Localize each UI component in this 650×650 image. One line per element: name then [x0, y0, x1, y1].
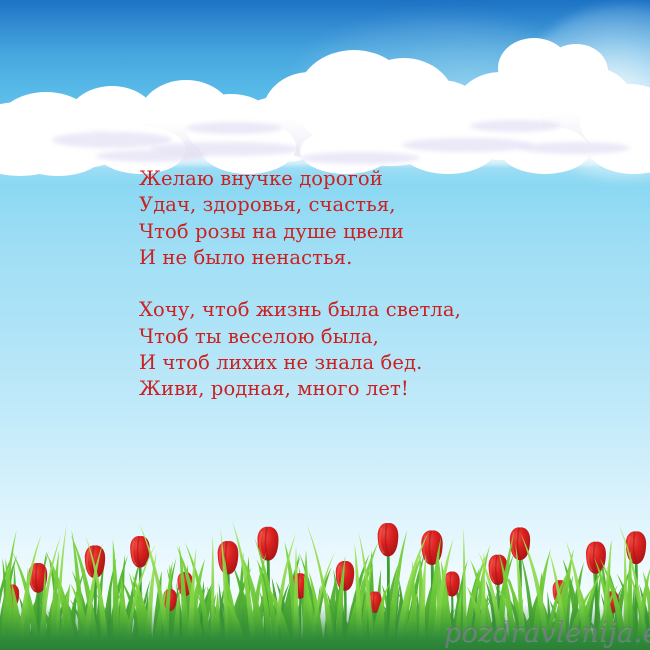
poem-line: Удач, здоровья, счастья,	[139, 192, 559, 218]
cloud-lobe	[296, 50, 412, 150]
poem-line: Чтоб розы на душе цвели	[139, 219, 559, 245]
cloud-shadow-wisp	[186, 122, 282, 134]
cloud-lobe	[0, 102, 80, 176]
tulip-flower	[510, 527, 530, 560]
tulip-flower	[378, 523, 399, 556]
sun-haze	[300, 18, 580, 138]
cloud-lobe	[232, 96, 336, 162]
grass-floor	[0, 604, 650, 650]
cloud-shadow-wisp	[402, 138, 532, 152]
cloud-lobe	[418, 94, 510, 160]
cloud-lobe	[262, 72, 358, 158]
cloud-lobe	[352, 58, 456, 152]
cloud-shadow-wisp	[520, 142, 630, 154]
tulip-flower	[336, 561, 354, 591]
poem-line: Хочу, чтоб жизнь была светла,	[139, 297, 559, 323]
poem-line: И чтоб лихих не знала бед.	[139, 350, 559, 376]
stanza-gap	[139, 271, 559, 297]
tulip-flower	[626, 531, 646, 564]
tulip-flower	[218, 541, 239, 574]
sun-glow	[520, 5, 650, 180]
cloud-shadow-wisp	[96, 150, 206, 162]
cloud-lobe	[330, 96, 450, 166]
greeting-card: Желаю внучке дорогойУдач, здоровья, счас…	[0, 0, 650, 650]
cloud-shadow-wisp	[52, 132, 172, 148]
cloud-lobe	[616, 96, 650, 158]
cloud-lobe	[452, 72, 548, 160]
cloud-lobe	[544, 44, 608, 98]
cloud-lobe	[34, 110, 130, 168]
cloud-base-sheet	[0, 104, 650, 168]
cloud-lobe	[588, 122, 650, 174]
poem-line: Желаю внучке дорогой	[139, 166, 559, 192]
cloud-shadow-wisp	[150, 142, 300, 156]
cloud-lobe	[492, 56, 596, 152]
cloud-lobe	[580, 84, 650, 158]
poem-line: Живи, родная, много лет!	[139, 376, 559, 402]
cloud-lobe	[10, 124, 106, 176]
cloud-lobe	[540, 66, 636, 152]
grass-band	[0, 515, 650, 650]
cloud-lobe	[498, 38, 570, 98]
cloud-lobe	[0, 92, 98, 168]
cloud-lobe	[66, 86, 158, 158]
poem-line: И не было ненастья.	[139, 245, 559, 271]
poem-text: Желаю внучке дорогойУдач, здоровья, счас…	[139, 166, 559, 403]
cloud-shadow-wisp	[300, 152, 420, 164]
poem-line: Чтоб ты веселою была,	[139, 324, 559, 350]
cloud-lobe	[108, 98, 194, 160]
cloud-lobe	[392, 80, 488, 158]
cloud-lobe	[186, 94, 276, 158]
cloud-lobe	[138, 80, 234, 158]
cloud-shadow-wisp	[470, 120, 560, 132]
